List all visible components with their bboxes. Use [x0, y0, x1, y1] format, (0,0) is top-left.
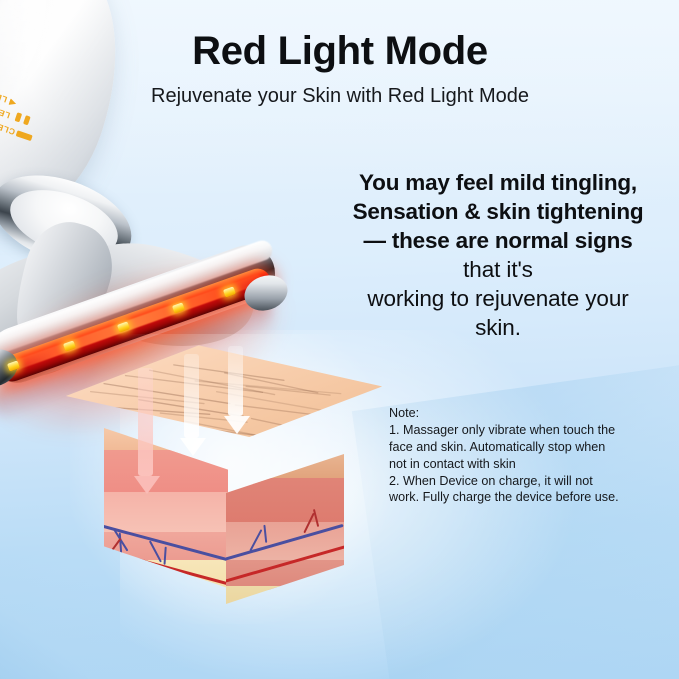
body-regular-line-2: working to rejuvenate your	[333, 284, 663, 313]
skin-cross-section-diagram	[96, 352, 364, 600]
indicator-pip-led-2	[15, 112, 23, 122]
product-marketing-image: Red Light Mode Rejuvenate your Skin with…	[0, 0, 679, 679]
indicator-pip-clean	[16, 130, 33, 141]
body-text-block: You may feel mild tingling, Sensation & …	[333, 168, 663, 342]
penetration-arrow-2	[180, 354, 202, 456]
penetration-arrow-1	[134, 368, 156, 494]
note-line-5: work. Fully charge the device before use…	[389, 489, 637, 506]
note-block: Note: 1. Massager only vibrate when touc…	[389, 405, 637, 506]
label-lev: LEV	[0, 90, 8, 105]
note-heading: Note:	[389, 405, 637, 422]
label-led: LED	[0, 105, 11, 120]
penetration-arrow-3	[224, 346, 246, 434]
indicator-pip-led-1	[23, 115, 31, 125]
body-bold-line-1: You may feel mild tingling,	[333, 168, 663, 197]
note-line-1: 1. Massager only vibrate when touch the	[389, 422, 637, 439]
note-line-2: face and skin. Automatically stop when	[389, 439, 637, 456]
body-bold-line-2: Sensation & skin tightening	[333, 197, 663, 226]
note-line-4: 2. When Device on charge, it will not	[389, 473, 637, 490]
note-line-3: not in contact with skin	[389, 456, 637, 473]
body-bold-line-3: — these are normal signs	[333, 226, 663, 255]
indicator-pip-lev	[8, 98, 17, 107]
body-regular-line-1: that it's	[333, 255, 663, 284]
